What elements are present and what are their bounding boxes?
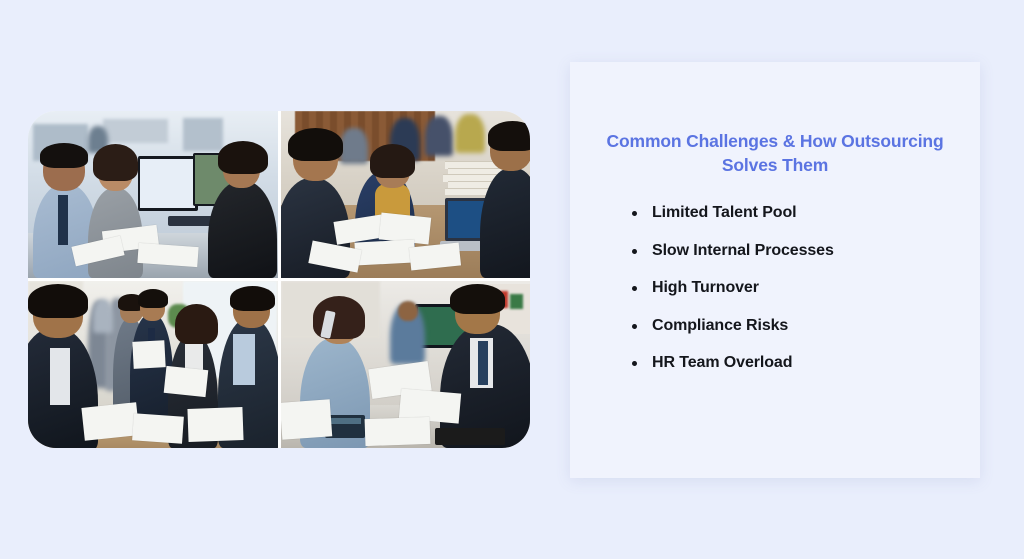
list-item-label: Limited Talent Pool (652, 204, 796, 221)
card-title-line-1: Common Challenges & How Outsourcing (607, 131, 944, 151)
collage-photo-top-left (28, 111, 278, 278)
slide-canvas: Common Challenges & How Outsourcing Solv… (0, 0, 1024, 559)
bullet-dot-icon (632, 361, 637, 366)
list-item: Limited Talent Pool (622, 204, 954, 222)
list-item: Slow Internal Processes (622, 242, 954, 260)
list-item-label: HR Team Overload (652, 354, 792, 371)
list-item-label: Compliance Risks (652, 317, 788, 334)
photo-scene-candidate-queue (28, 281, 278, 448)
collage-photo-bottom-right (281, 281, 531, 448)
bullet-dot-icon (632, 249, 637, 254)
card-title-line-2: Solves Them (722, 155, 828, 175)
list-item-label: High Turnover (652, 279, 759, 296)
bullet-dot-icon (632, 286, 637, 291)
hr-office-photo-collage (28, 111, 530, 448)
photo-scene-resume-overload (281, 111, 531, 278)
bullet-dot-icon (632, 324, 637, 329)
challenges-list: Limited Talent Pool Slow Internal Proces… (622, 204, 954, 372)
bullet-dot-icon (632, 211, 637, 216)
list-item: High Turnover (622, 279, 954, 297)
collage-photo-top-right (281, 111, 531, 278)
challenges-card: Common Challenges & How Outsourcing Solv… (570, 62, 980, 478)
photo-scene-office-desk-review (28, 111, 278, 278)
card-title: Common Challenges & How Outsourcing Solv… (596, 130, 954, 178)
list-item: Compliance Risks (622, 317, 954, 335)
list-item-label: Slow Internal Processes (652, 242, 834, 259)
list-item: HR Team Overload (622, 354, 954, 372)
photo-scene-phone-and-paperwork (281, 281, 531, 448)
collage-photo-bottom-left (28, 281, 278, 448)
